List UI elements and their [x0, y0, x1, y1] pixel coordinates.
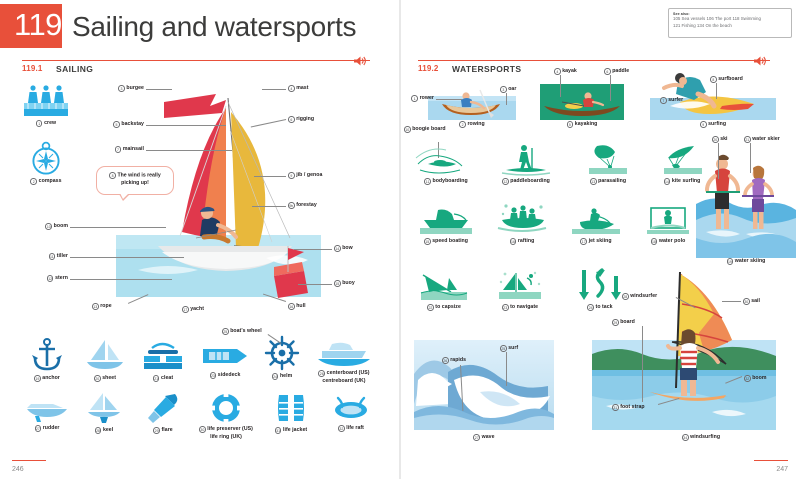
- icon-cell-navigate: 23to navigate: [480, 270, 560, 312]
- icon-cell-life-raft: 32life raft: [322, 394, 380, 433]
- navigate-icon: [495, 270, 545, 302]
- label-surfboard: 8surfboard: [710, 76, 743, 84]
- label-centerboard-uk: centreboard (UK): [322, 378, 365, 384]
- page-number-right: 247: [776, 466, 788, 473]
- chapter-number: 119: [14, 9, 62, 40]
- leader-bow: [294, 249, 332, 250]
- label-speed-boating: 15speed boating: [406, 238, 486, 246]
- leader-kayak: [560, 75, 561, 97]
- life-jacket-icon: [274, 392, 308, 424]
- label-flare: 29flare: [136, 427, 190, 435]
- label-to-tack: 24to tack: [566, 304, 634, 312]
- icon-cell-anchor: 19anchor: [20, 338, 74, 383]
- icon-cell-life-jacket: 31life jacket: [262, 392, 320, 435]
- icon-cell-capsize: 22to capsize: [408, 272, 480, 312]
- icon-cell-bodyboarding: 11bodyboarding: [408, 146, 484, 186]
- caption-water-skiing: 19water skiing: [696, 258, 796, 266]
- label-rower: 1rower: [404, 95, 434, 103]
- label-forestay: 9bforestay: [288, 202, 317, 210]
- label-rope: 13rope: [92, 303, 112, 311]
- icon-cell-sidedeck: 23sidedeck: [196, 341, 254, 380]
- caption-wave: 27wave: [414, 434, 554, 442]
- caption-kayaking: 5kayaking: [540, 121, 624, 129]
- icon-cell-crew: 1crew: [22, 84, 70, 128]
- label-rigging: 6rigging: [288, 116, 314, 124]
- label-ski: 20ski: [712, 136, 728, 144]
- icon-cell-rudder: 27rudder: [20, 396, 74, 433]
- label-boats-wheel: 25boat's wheel: [222, 328, 262, 336]
- section-name-2: WATERSPORTS: [452, 64, 521, 74]
- label-kayak: 4kayak: [554, 68, 577, 76]
- wave-scene: [414, 340, 554, 430]
- label-rudder: 27rudder: [20, 425, 74, 433]
- label-jet-skiing: 17jet skiing: [560, 238, 632, 246]
- icon-cell-speedboat: 15speed boating: [406, 206, 486, 246]
- helm-wheel-icon: [265, 336, 299, 370]
- leader-surf: [506, 352, 507, 386]
- see-also-line-2: 121 Fishing 134 On the beach: [673, 23, 787, 30]
- icon-cell-centerboard: 26centerboard (US) centreboard (UK): [306, 340, 382, 385]
- book-spread: 119 Sailing and watersports 119.1 SAILIN…: [0, 0, 800, 479]
- speaker-icon-sailing[interactable]: [352, 55, 368, 67]
- label-keel: 28keel: [76, 427, 132, 435]
- jetski-icon: [570, 206, 622, 236]
- see-also-line-1: 105 Sea vessels 106 The port 118 Swimmin…: [673, 16, 787, 23]
- kayaking-scene: [540, 84, 624, 120]
- leader-mast: [262, 89, 286, 90]
- icon-cell-helm: 24helm: [256, 336, 308, 381]
- icon-cell-compass: 2compass: [22, 140, 70, 186]
- label-water-polo: 18water polo: [636, 238, 700, 246]
- rafting-icon: [496, 202, 548, 236]
- label-burgee: 3burgee: [90, 85, 144, 93]
- leader-rower: [436, 99, 462, 100]
- label-jib-genoa: 9jib / genoa: [288, 172, 322, 180]
- tack-icon: [578, 268, 622, 302]
- leader-forestay: [252, 206, 286, 207]
- label-parasailing: 13parasailing: [570, 178, 646, 186]
- label-life-raft: 32life raft: [322, 425, 380, 433]
- section-number-1: 119.1: [22, 64, 43, 73]
- caption-surfing: 9surfing: [650, 121, 776, 129]
- icon-cell-jetski: 17jet skiing: [560, 206, 632, 246]
- capsize-icon: [419, 272, 469, 302]
- label-rapids: 26rapids: [442, 357, 466, 365]
- label-surf: 25surf: [500, 345, 518, 353]
- waterpolo-icon: [645, 204, 691, 236]
- label-boogie-board: 10boogie board: [404, 126, 450, 134]
- leader-ski: [718, 143, 719, 179]
- see-also-box: See also: 105 Sea vessels 106 The port 1…: [668, 8, 792, 38]
- keel-icon: [84, 392, 124, 424]
- leader-mainsail: [146, 150, 232, 151]
- icon-cell-tack: 24to tack: [566, 268, 634, 312]
- page-title: Sailing and watersports: [72, 10, 356, 44]
- sidedeck-icon: [201, 341, 249, 369]
- speaker-icon-watersports[interactable]: [752, 55, 768, 67]
- leader-burgee: [146, 89, 172, 90]
- label-life-ring-uk: life ring (UK): [210, 434, 242, 440]
- cleat-icon: [142, 338, 184, 372]
- label-helm: 24helm: [256, 373, 308, 381]
- leader-paddle: [610, 75, 611, 101]
- label-bodyboarding: 11bodyboarding: [408, 178, 484, 186]
- icon-cell-life-preserver: 30life preserver (US) life ring (UK): [190, 392, 262, 441]
- label-paddle: 6paddle: [604, 68, 629, 76]
- label-cleat: 21cleat: [136, 375, 190, 383]
- label-oar: 3oar: [500, 86, 516, 94]
- section-name-1: SAILING: [56, 64, 93, 74]
- label-centerboard: 26centerboard (US) centreboard (UK): [306, 370, 382, 385]
- label-yacht: 17yacht: [182, 306, 204, 314]
- label-board: 29board: [612, 319, 635, 327]
- rudder-icon: [25, 396, 69, 422]
- leader-water-skier: [750, 143, 751, 173]
- label-stern: 12stern: [18, 275, 68, 283]
- label-backstay: 5backstay: [86, 121, 144, 129]
- leader-board: [642, 326, 643, 402]
- parasailing-icon: [583, 144, 633, 176]
- folio-rule-left: [12, 460, 46, 461]
- label-sidedeck: 23sidedeck: [196, 372, 254, 380]
- label-mast: 4mast: [288, 85, 309, 93]
- leader-buoy: [298, 284, 332, 285]
- icon-cell-paddleboarding: 12paddleboarding: [484, 144, 568, 186]
- compass-icon: [28, 140, 64, 176]
- label-to-navigate: 23to navigate: [480, 304, 560, 312]
- label-sail: 30sail: [743, 298, 760, 306]
- left-page: 119 Sailing and watersports 119.1 SAILIN…: [0, 0, 400, 479]
- label-sheet: 20sheet: [76, 375, 134, 383]
- label-life-jacket: 31life jacket: [262, 427, 320, 435]
- label-life-preserver: 30life preserver (US) life ring (UK): [190, 426, 262, 441]
- section-rule-watersports: [418, 60, 770, 61]
- label-boom-windsurf: 32boom: [744, 375, 767, 383]
- life-ring-icon: [210, 392, 242, 424]
- flare-icon: [145, 392, 181, 424]
- speech-bubble-text: The wind is really picking up!: [117, 173, 160, 187]
- label-paddleboarding: 12paddleboarding: [484, 178, 568, 186]
- leader-sail: [722, 301, 741, 302]
- label-boom: 10boom: [18, 223, 68, 231]
- crew-icon: [24, 84, 68, 118]
- anchor-icon: [31, 338, 63, 372]
- bodyboarding-icon: [416, 146, 476, 176]
- leader-boom: [70, 227, 166, 228]
- paddleboarding-icon: [500, 144, 552, 176]
- icon-cell-keel: 28keel: [76, 392, 132, 435]
- speedboat-icon: [418, 206, 474, 236]
- folio-rule-right: [754, 460, 788, 461]
- label-to-capsize: 22to capsize: [408, 304, 480, 312]
- sailboat-sheet-icon: [83, 338, 127, 372]
- speech-bubble-wind: 8The wind is really picking up!: [96, 166, 174, 195]
- label-hull: 16hull: [288, 303, 306, 311]
- label-anchor: 19anchor: [20, 375, 74, 383]
- leader-surfboard: [716, 83, 717, 99]
- icon-cell-rafting: 16rafting: [486, 202, 558, 246]
- icon-cell-flare: 29flare: [136, 392, 190, 435]
- label-crew: 1crew: [22, 120, 70, 128]
- icon-cell-cleat: 21cleat: [136, 338, 190, 383]
- icon-cell-sheet: 20sheet: [76, 338, 134, 383]
- label-bow: 14bow: [334, 245, 353, 253]
- label-buoy: 15buoy: [334, 280, 355, 288]
- label-foot-strap: 31foot strap: [612, 404, 645, 412]
- label-boogie-board-text: boogie board: [412, 126, 445, 132]
- leader-oar: [506, 93, 507, 105]
- leader-jib: [254, 176, 286, 177]
- section-number-2: 119.2: [418, 64, 439, 73]
- label-mainsail: 7mainsail: [86, 146, 144, 154]
- label-compass: 2compass: [22, 178, 70, 186]
- label-surfer: 7surfer: [660, 97, 683, 105]
- leader-backstay: [146, 125, 226, 126]
- caption-windsurfing: 34windsurfing: [636, 434, 766, 442]
- label-windsurfer: 28windsurfer: [622, 293, 657, 301]
- right-page: See also: 105 Sea vessels 106 The port 1…: [400, 0, 800, 479]
- label-tiller: 11tiller: [18, 253, 68, 261]
- life-raft-icon: [330, 394, 372, 422]
- leader-tiller: [70, 257, 184, 258]
- icon-cell-waterpolo: 18water polo: [636, 204, 700, 246]
- leader-stern: [70, 279, 172, 280]
- page-number-left: 246: [12, 466, 24, 473]
- centerboard-icon: [316, 340, 372, 368]
- label-rafting: 16rafting: [486, 238, 558, 246]
- section-rule-sailing: [22, 60, 370, 61]
- icon-cell-parasailing: 13parasailing: [570, 144, 646, 186]
- waterskiing-scene: [696, 148, 796, 258]
